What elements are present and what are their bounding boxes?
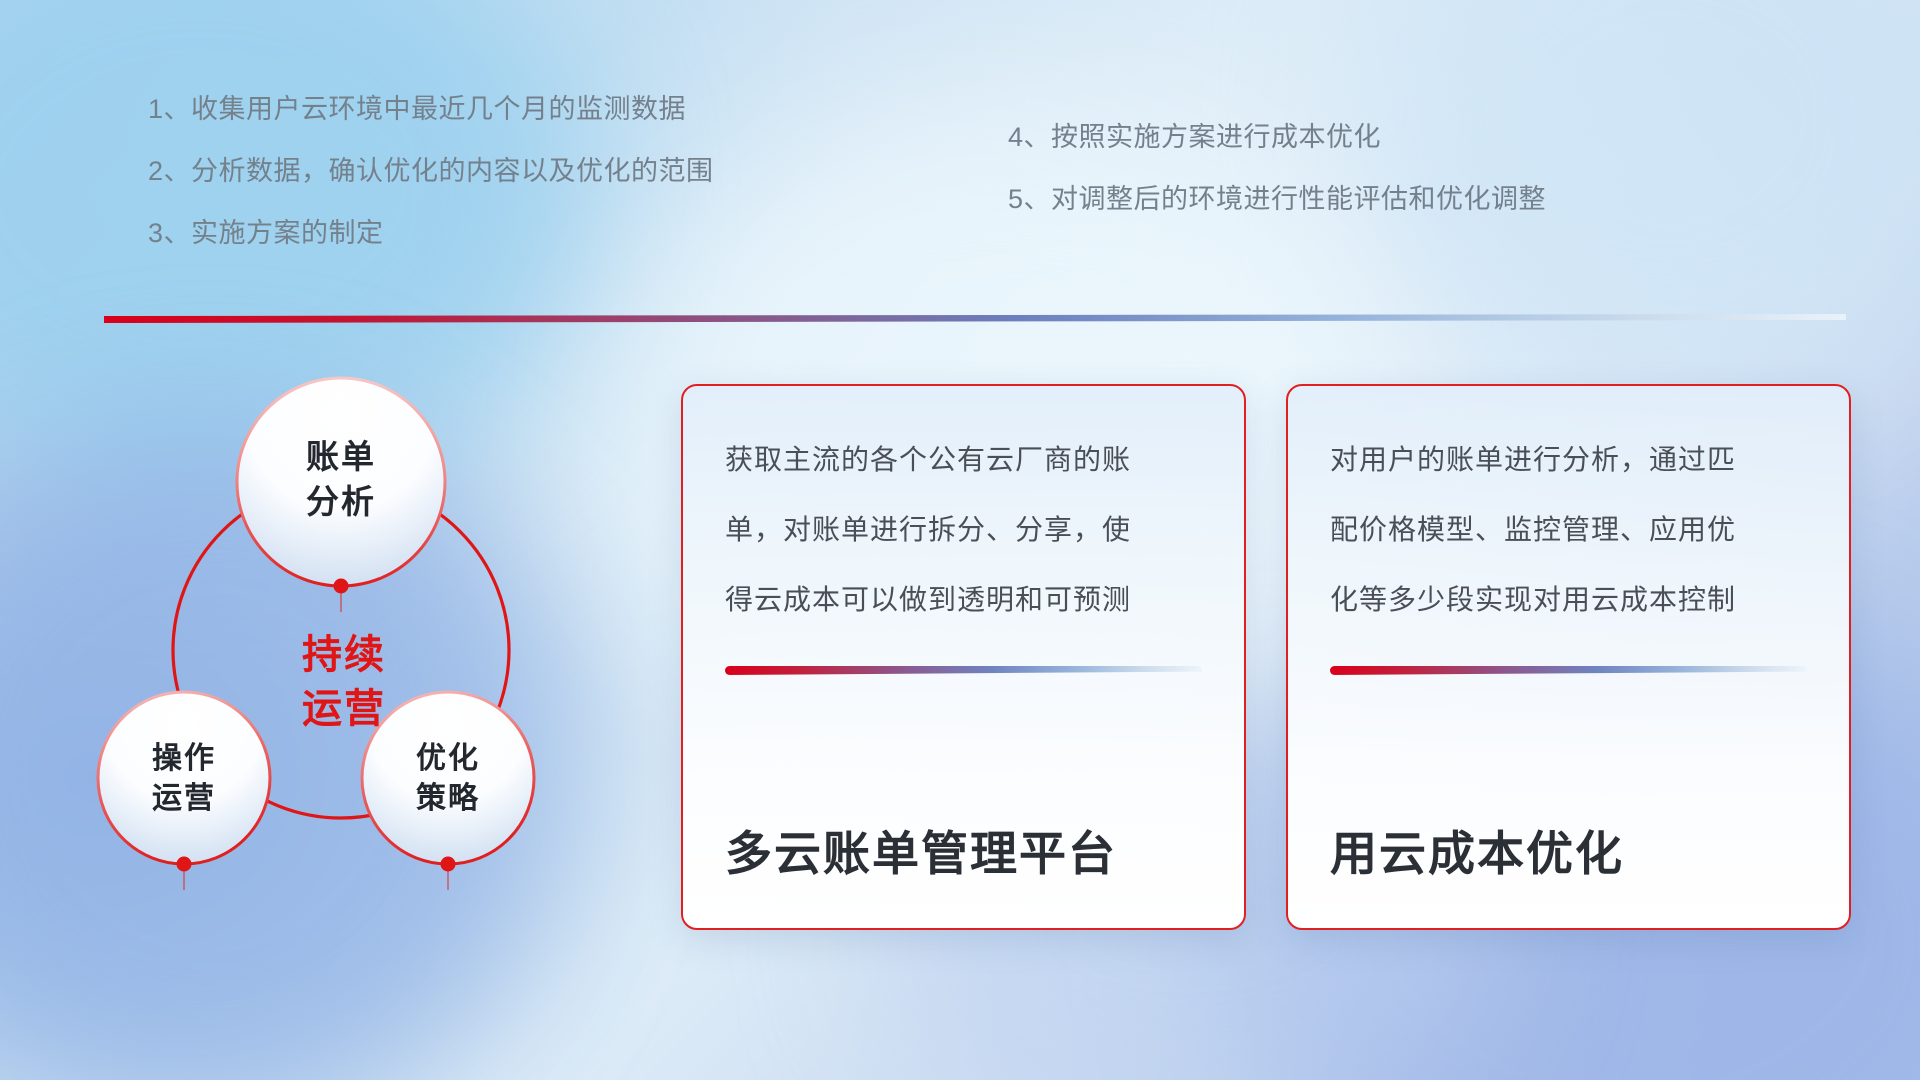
venn-connector-dot-top bbox=[334, 579, 349, 594]
bullet-item-2: 2、分析数据，确认优化的内容以及优化的范围 bbox=[148, 158, 714, 185]
card-multi-cloud-billing-platform[interactable]: 获取主流的各个公有云厂商的账 单，对账单进行拆分、分享，使 得云成本可以做到透明… bbox=[681, 384, 1246, 930]
bullet-item-4: 4、按照实施方案进行成本优化 bbox=[1008, 124, 1546, 151]
card-divider-rule bbox=[1330, 666, 1807, 675]
venn-node-operations[interactable]: 操作 运营 bbox=[98, 692, 270, 864]
venn-node-billing-analysis[interactable]: 账单 分析 bbox=[237, 378, 445, 586]
venn-node-label-line2: 运营 bbox=[152, 782, 216, 815]
card-paragraph-line: 化等多少段实现对用云成本控制 bbox=[1330, 586, 1807, 614]
card-body: 对用户的账单进行分析，通过匹 配价格模型、监控管理、应用优 化等多少段实现对用云… bbox=[1288, 386, 1849, 656]
card-title: 用云成本优化 bbox=[1288, 815, 1849, 928]
bullet-item-3: 3、实施方案的制定 bbox=[148, 220, 714, 247]
card-paragraph-line: 单，对账单进行拆分、分享，使 bbox=[725, 516, 1202, 544]
venn-node-label-line2: 分析 bbox=[306, 483, 376, 520]
venn-center-label-line1: 持续 bbox=[302, 633, 386, 677]
header-divider-rule bbox=[104, 314, 1846, 323]
card-cloud-cost-optimization[interactable]: 对用户的账单进行分析，通过匹 配价格模型、监控管理、应用优 化等多少段实现对用云… bbox=[1286, 384, 1851, 930]
venn-diagram: 账单 分析 操作 运营 优化 策略 持续 运营 bbox=[96, 350, 616, 950]
bullet-item-5: 5、对调整后的环境进行性能评估和优化调整 bbox=[1008, 186, 1546, 213]
venn-connector-dot-right bbox=[441, 857, 456, 872]
venn-node-label-line1: 操作 bbox=[152, 742, 216, 775]
venn-node-label-line1: 账单 bbox=[306, 438, 376, 475]
venn-node-label-line2: 策略 bbox=[416, 781, 480, 815]
card-title: 多云账单管理平台 bbox=[683, 815, 1244, 928]
bullet-list-left: 1、收集用户云环境中最近几个月的监测数据 2、分析数据，确认优化的内容以及优化的… bbox=[148, 96, 714, 282]
bullet-list-right: 4、按照实施方案进行成本优化 5、对调整后的环境进行性能评估和优化调整 bbox=[1008, 124, 1546, 248]
venn-connector-dot-left bbox=[177, 857, 192, 872]
card-paragraph-line: 获取主流的各个公有云厂商的账 bbox=[725, 446, 1202, 474]
card-body: 获取主流的各个公有云厂商的账 单，对账单进行拆分、分享，使 得云成本可以做到透明… bbox=[683, 386, 1244, 656]
bullet-item-1: 1、收集用户云环境中最近几个月的监测数据 bbox=[148, 96, 714, 123]
card-paragraph-line: 配价格模型、监控管理、应用优 bbox=[1330, 516, 1807, 544]
card-divider-rule bbox=[725, 666, 1202, 675]
card-paragraph-line: 对用户的账单进行分析，通过匹 bbox=[1330, 446, 1807, 474]
card-paragraph-line: 得云成本可以做到透明和可预测 bbox=[725, 586, 1202, 614]
venn-center-label-line2: 运营 bbox=[302, 687, 386, 731]
venn-node-label-line1: 优化 bbox=[416, 742, 480, 775]
venn-node-optimization[interactable]: 优化 策略 bbox=[362, 692, 534, 864]
